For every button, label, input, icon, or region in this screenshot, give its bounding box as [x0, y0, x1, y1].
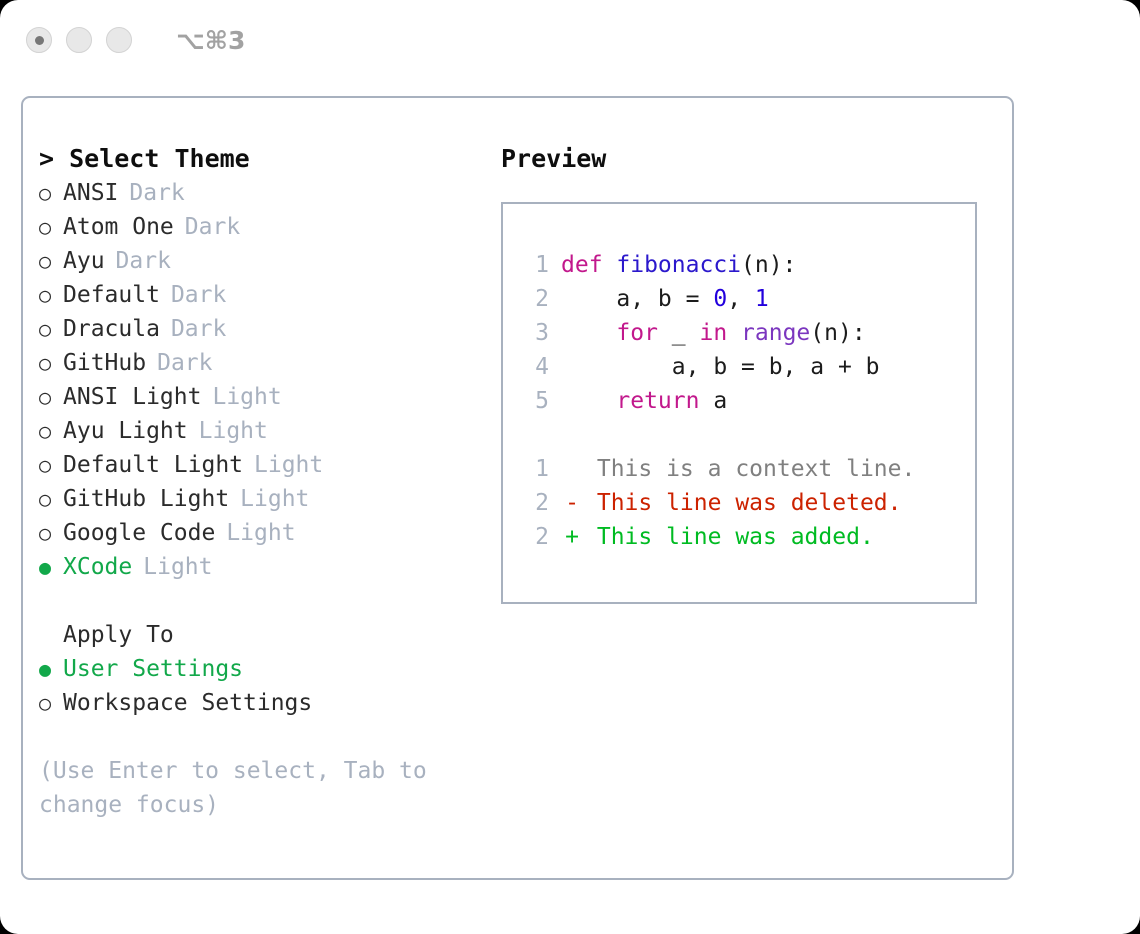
- apply-to-option-label: Workspace Settings: [63, 686, 312, 720]
- code-line: 5 return a: [515, 384, 975, 418]
- app-window: ⌥⌘3 > Select Theme ○ANSIDark○Atom OneDar…: [0, 0, 1140, 934]
- active-dot-icon: [35, 36, 44, 45]
- code-line-number: 4: [515, 350, 549, 384]
- keyboard-hint: (Use Enter to select, Tab to change focu…: [39, 754, 459, 822]
- theme-item-name: Dracula: [63, 312, 160, 346]
- theme-item[interactable]: ○Ayu LightLight: [39, 414, 478, 448]
- diff-line-text: This line was added.: [583, 520, 874, 554]
- theme-item[interactable]: ○AyuDark: [39, 244, 478, 278]
- theme-item-variant: Light: [240, 482, 309, 516]
- theme-item-name: GitHub: [63, 346, 146, 380]
- theme-item-variant: Dark: [116, 244, 171, 278]
- radio-unselected-icon: ○: [39, 414, 63, 448]
- radio-unselected-icon: ○: [39, 312, 63, 346]
- theme-item-name: XCode: [63, 550, 132, 584]
- diff-line: 2- This line was deleted.: [515, 486, 975, 520]
- radio-unselected-icon: ○: [39, 686, 63, 720]
- theme-item-name: Atom One: [63, 210, 174, 244]
- diff-line-number: 2: [515, 520, 549, 554]
- diff-line-text: This line was deleted.: [583, 486, 902, 520]
- code-token-plain: [561, 388, 616, 414]
- code-line: 2 a, b = 0, 1: [515, 282, 975, 316]
- theme-item[interactable]: ○GitHubDark: [39, 346, 478, 380]
- theme-item-name: Ayu Light: [63, 414, 188, 448]
- radio-unselected-icon: ○: [39, 176, 63, 210]
- code-token-plain: a, b =: [561, 286, 713, 312]
- theme-item[interactable]: ○DraculaDark: [39, 312, 478, 346]
- radio-unselected-icon: ○: [39, 380, 63, 414]
- traffic-light-second[interactable]: [66, 27, 92, 53]
- list-gap: [39, 584, 478, 618]
- code-line-number: 5: [515, 384, 549, 418]
- radio-unselected-icon: ○: [39, 482, 63, 516]
- diff-line-text: This is a context line.: [583, 452, 915, 486]
- theme-item[interactable]: ○Default LightLight: [39, 448, 478, 482]
- theme-item-variant: Light: [226, 516, 295, 550]
- theme-item[interactable]: ○ANSIDark: [39, 176, 478, 210]
- panel-columns: > Select Theme ○ANSIDark○Atom OneDark○Ay…: [23, 98, 1012, 822]
- code-line-content: a, b = b, a + b: [561, 350, 880, 384]
- diff-marker: [561, 452, 583, 486]
- theme-item-variant: Dark: [157, 346, 212, 380]
- apply-to-heading: Apply To: [39, 618, 478, 652]
- code-line: 1def fibonacci(n):: [515, 248, 975, 282]
- preview-column: Preview 1def fibonacci(n):2 a, b = 0, 13…: [478, 142, 1012, 822]
- code-diff-separator: [515, 418, 975, 452]
- diff-marker: +: [561, 520, 583, 554]
- theme-item[interactable]: ○Atom OneDark: [39, 210, 478, 244]
- select-theme-heading: > Select Theme: [39, 142, 478, 176]
- radio-unselected-icon: ○: [39, 278, 63, 312]
- radio-unselected-icon: ○: [39, 346, 63, 380]
- code-token-kw: in: [699, 320, 727, 346]
- theme-item[interactable]: ○ANSI LightLight: [39, 380, 478, 414]
- code-token-num: 0: [713, 286, 727, 312]
- radio-unselected-icon: ○: [39, 516, 63, 550]
- code-token-plain: a, b = b, a + b: [561, 354, 880, 380]
- code-token-plain: a: [699, 388, 727, 414]
- code-token-plain: (n):: [810, 320, 865, 346]
- code-line: 4 a, b = b, a + b: [515, 350, 975, 384]
- title-bar: ⌥⌘3: [0, 0, 1140, 80]
- theme-item-name: Ayu: [63, 244, 105, 278]
- code-line-number: 2: [515, 282, 549, 316]
- theme-item-name: Google Code: [63, 516, 215, 550]
- theme-item-name: ANSI: [63, 176, 118, 210]
- diff-line-number: 1: [515, 452, 549, 486]
- code-token-plain: [727, 320, 741, 346]
- theme-selector-column: > Select Theme ○ANSIDark○Atom OneDark○Ay…: [23, 142, 478, 822]
- theme-item[interactable]: ●XCodeLight: [39, 550, 478, 584]
- main-panel: > Select Theme ○ANSIDark○Atom OneDark○Ay…: [21, 96, 1014, 880]
- theme-item-variant: Dark: [171, 312, 226, 346]
- code-token-plain: (n):: [741, 252, 796, 278]
- apply-to-option[interactable]: ○Workspace Settings: [39, 686, 478, 720]
- theme-item[interactable]: ○GitHub LightLight: [39, 482, 478, 516]
- code-line-content: a, b = 0, 1: [561, 282, 769, 316]
- radio-selected-icon: ●: [39, 652, 63, 686]
- theme-item-variant: Light: [143, 550, 212, 584]
- theme-list[interactable]: ○ANSIDark○Atom OneDark○AyuDark○DefaultDa…: [39, 176, 478, 584]
- code-line-content: def fibonacci(n):: [561, 248, 796, 282]
- radio-selected-icon: ●: [39, 550, 63, 584]
- traffic-light-third[interactable]: [106, 27, 132, 53]
- code-block: 1def fibonacci(n):2 a, b = 0, 13 for _ i…: [515, 248, 975, 418]
- keyboard-shortcut-label: ⌥⌘3: [176, 26, 245, 55]
- code-token-plain: ,: [727, 286, 755, 312]
- code-preview-panel: 1def fibonacci(n):2 a, b = 0, 13 for _ i…: [501, 202, 977, 604]
- diff-line: 1 This is a context line.: [515, 452, 975, 486]
- diff-line: 2+ This line was added.: [515, 520, 975, 554]
- radio-unselected-icon: ○: [39, 244, 63, 278]
- apply-to-list[interactable]: ●User Settings○Workspace Settings: [39, 652, 478, 720]
- apply-to-option-label: User Settings: [63, 652, 243, 686]
- theme-item[interactable]: ○DefaultDark: [39, 278, 478, 312]
- theme-item-variant: Dark: [185, 210, 240, 244]
- theme-item-variant: Dark: [129, 176, 184, 210]
- code-token-kw: def: [561, 252, 616, 278]
- code-token-plain: _: [658, 320, 700, 346]
- theme-item[interactable]: ○Google CodeLight: [39, 516, 478, 550]
- code-token-kw: return: [616, 388, 699, 414]
- preview-heading: Preview: [501, 142, 1012, 176]
- diff-line-number: 2: [515, 486, 549, 520]
- radio-unselected-icon: ○: [39, 448, 63, 482]
- theme-item-name: Default Light: [63, 448, 243, 482]
- theme-item-variant: Light: [212, 380, 281, 414]
- code-line: 3 for _ in range(n):: [515, 316, 975, 350]
- code-line-number: 3: [515, 316, 549, 350]
- code-token-plain: [561, 320, 616, 346]
- hint-gap: [39, 720, 478, 754]
- diff-block: 1 This is a context line.2- This line wa…: [515, 452, 975, 554]
- theme-item-name: Default: [63, 278, 160, 312]
- theme-item-variant: Light: [199, 414, 268, 448]
- theme-item-name: ANSI Light: [63, 380, 201, 414]
- code-token-num: 1: [755, 286, 769, 312]
- theme-item-variant: Dark: [171, 278, 226, 312]
- code-token-call: range: [741, 320, 810, 346]
- code-line-content: for _ in range(n):: [561, 316, 866, 350]
- radio-unselected-icon: ○: [39, 210, 63, 244]
- code-token-kw: for: [616, 320, 658, 346]
- code-line-number: 1: [515, 248, 549, 282]
- apply-to-option[interactable]: ●User Settings: [39, 652, 478, 686]
- theme-item-name: GitHub Light: [63, 482, 229, 516]
- code-line-content: return a: [561, 384, 727, 418]
- theme-item-variant: Light: [254, 448, 323, 482]
- traffic-light-active[interactable]: [26, 27, 52, 53]
- diff-marker: -: [561, 486, 583, 520]
- code-token-fn: fibonacci: [616, 252, 741, 278]
